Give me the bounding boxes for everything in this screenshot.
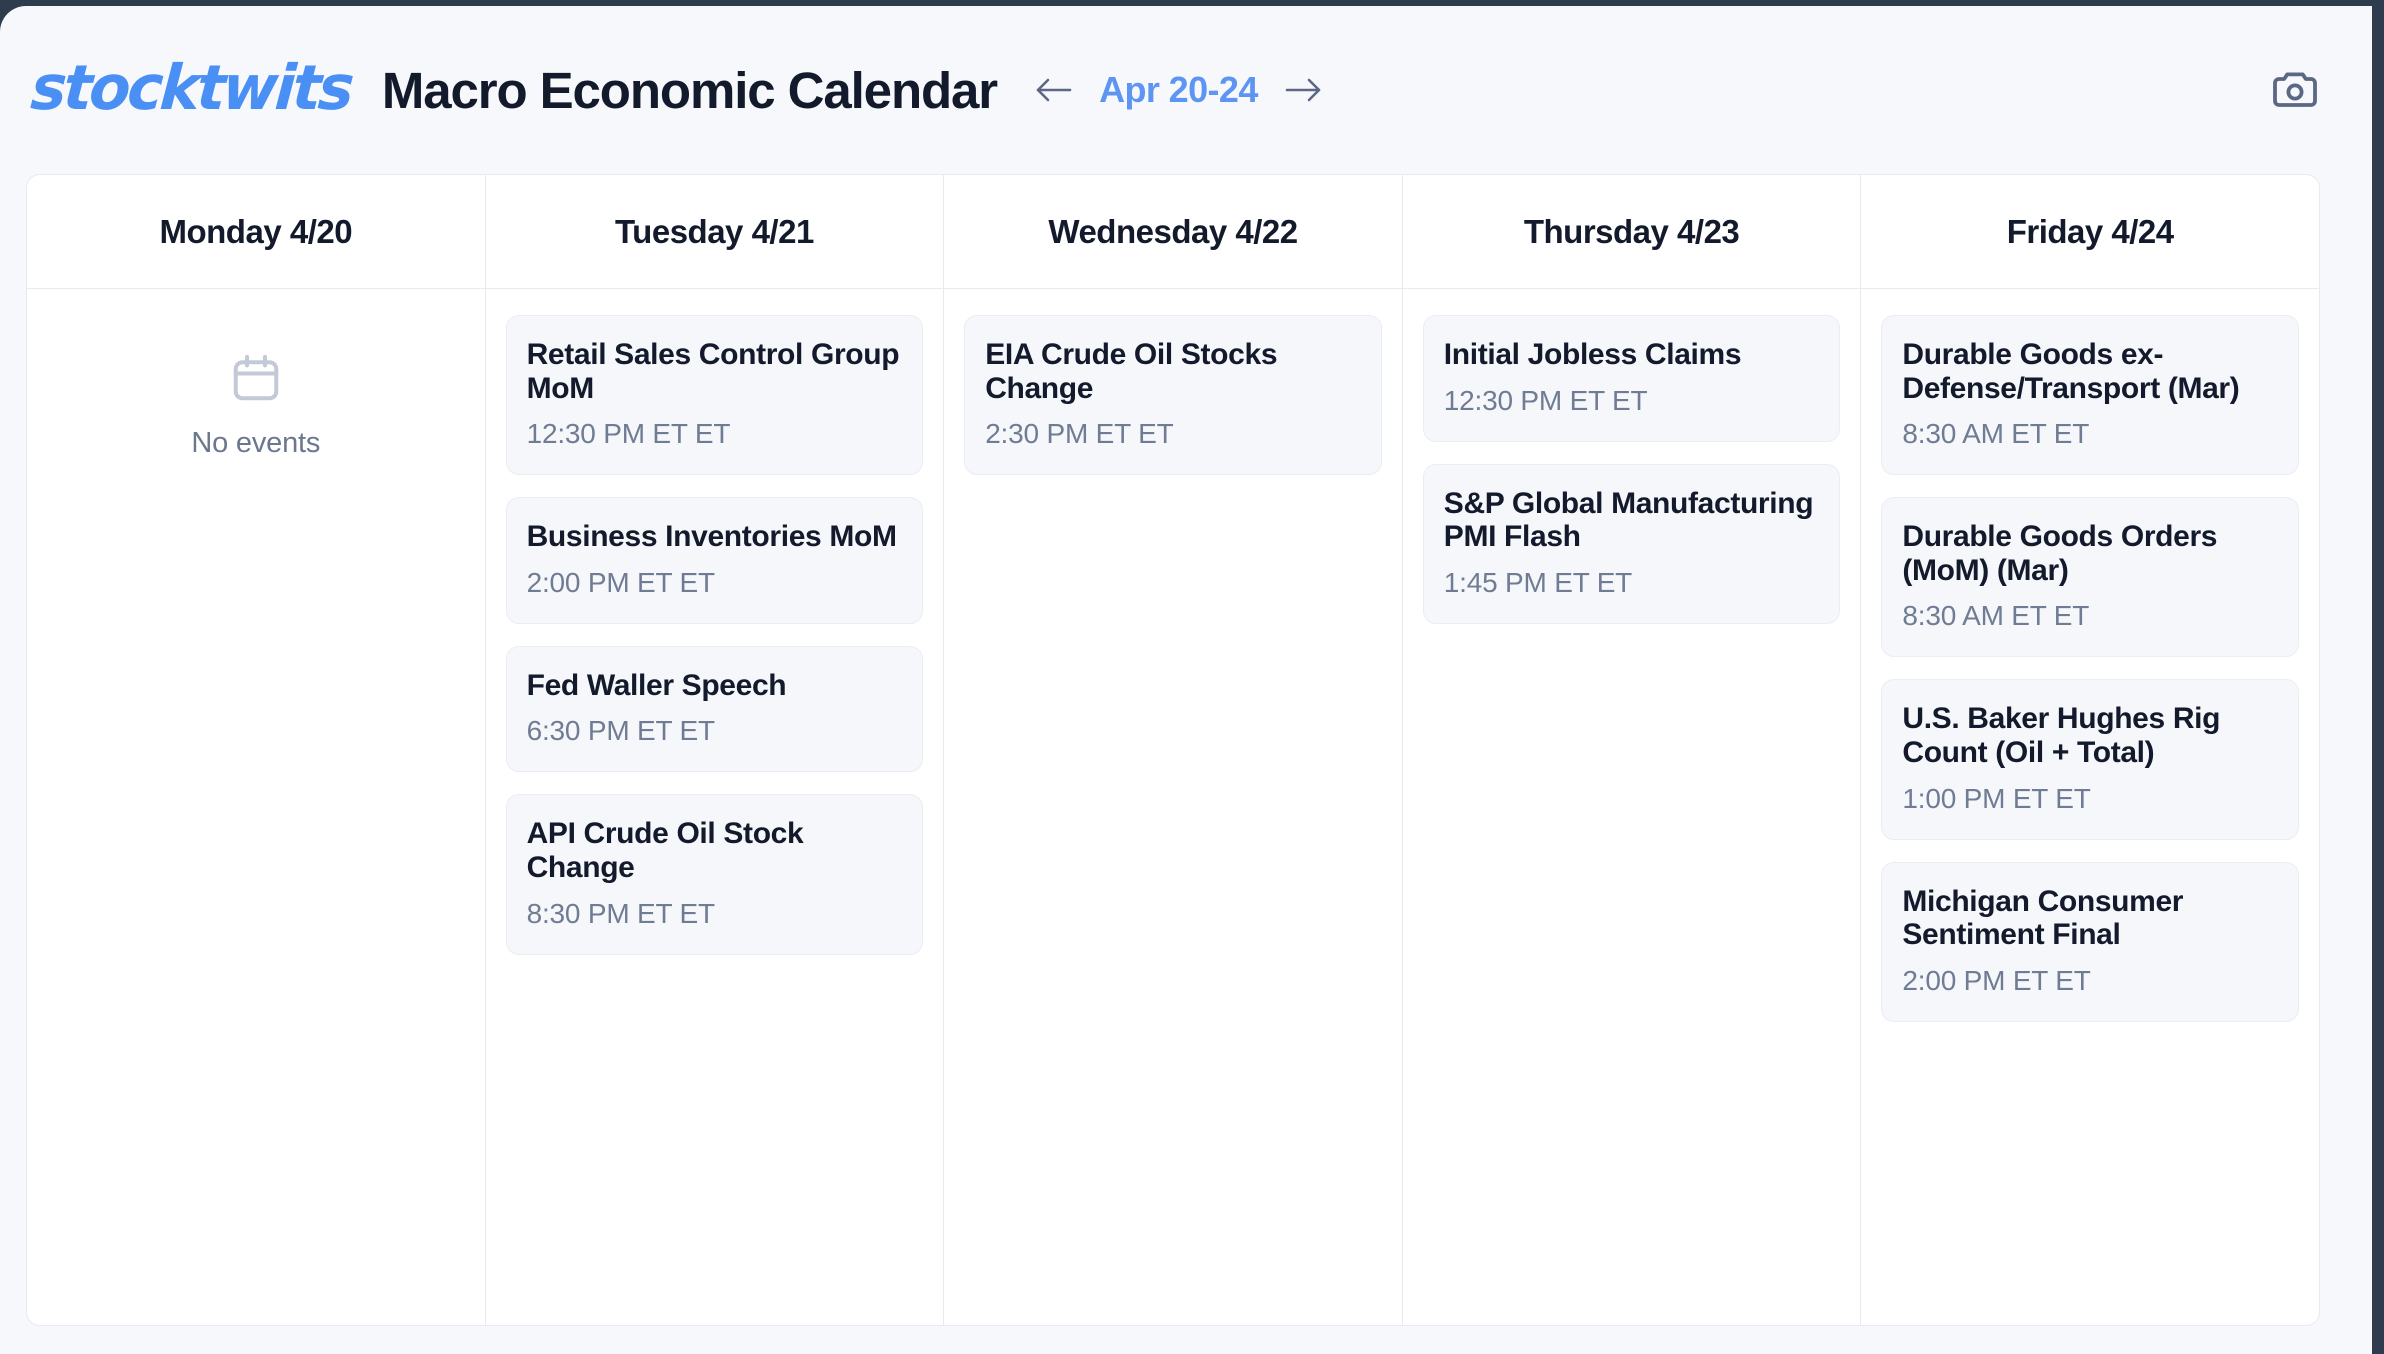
event-title: Durable Goods ex-Defense/Transport (Mar) (1902, 338, 2278, 405)
event-time: 1:00 PM ET ET (1902, 783, 2278, 815)
date-navigation: Apr 20-24 (1031, 69, 1326, 111)
event-title: Initial Jobless Claims (1444, 338, 1820, 372)
event-card[interactable]: U.S. Baker Hughes Rig Count (Oil + Total… (1881, 679, 2299, 839)
event-card[interactable]: Durable Goods Orders (MoM) (Mar) 8:30 AM… (1881, 497, 2299, 657)
empty-state-label: No events (191, 427, 320, 460)
day-header-row: Monday 4/20 Tuesday 4/21 Wednesday 4/22 … (27, 175, 2319, 289)
day-body-row: No events Retail Sales Control Group MoM… (27, 289, 2319, 1325)
event-card[interactable]: Initial Jobless Claims 12:30 PM ET ET (1423, 315, 1841, 442)
event-title: Business Inventories MoM (527, 520, 903, 554)
event-time: 6:30 PM ET ET (527, 715, 903, 747)
day-header-wednesday: Wednesday 4/22 (944, 175, 1403, 288)
calendar-icon (229, 351, 283, 405)
day-header-tuesday: Tuesday 4/21 (486, 175, 945, 288)
event-title: Michigan Consumer Sentiment Final (1902, 885, 2278, 952)
event-card[interactable]: Durable Goods ex-Defense/Transport (Mar)… (1881, 315, 2299, 475)
event-time: 2:00 PM ET ET (527, 567, 903, 599)
event-card[interactable]: Business Inventories MoM 2:00 PM ET ET (506, 497, 924, 624)
day-column-monday: No events (27, 289, 486, 1325)
event-time: 2:30 PM ET ET (985, 418, 1361, 450)
event-title: Fed Waller Speech (527, 669, 903, 703)
day-header-thursday: Thursday 4/23 (1403, 175, 1862, 288)
day-column-wednesday: EIA Crude Oil Stocks Change 2:30 PM ET E… (944, 289, 1403, 1325)
event-time: 8:30 AM ET ET (1902, 600, 2278, 632)
day-header-monday: Monday 4/20 (27, 175, 486, 288)
camera-icon[interactable] (2266, 61, 2324, 119)
event-title: S&P Global Manufacturing PMI Flash (1444, 487, 1820, 554)
event-title: U.S. Baker Hughes Rig Count (Oil + Total… (1902, 702, 2278, 769)
event-time: 8:30 PM ET ET (527, 898, 903, 930)
event-card[interactable]: EIA Crude Oil Stocks Change 2:30 PM ET E… (964, 315, 1382, 475)
event-time: 12:30 PM ET ET (1444, 385, 1820, 417)
event-title: Retail Sales Control Group MoM (527, 338, 903, 405)
event-card[interactable]: Michigan Consumer Sentiment Final 2:00 P… (1881, 862, 2299, 1022)
event-time: 1:45 PM ET ET (1444, 567, 1820, 599)
event-time: 12:30 PM ET ET (527, 418, 903, 450)
app-header: stocktwits Macro Economic Calendar Apr 2… (0, 6, 2372, 174)
day-column-tuesday: Retail Sales Control Group MoM 12:30 PM … (486, 289, 945, 1325)
event-title: EIA Crude Oil Stocks Change (985, 338, 1361, 405)
event-title: Durable Goods Orders (MoM) (Mar) (1902, 520, 2278, 587)
date-range-label[interactable]: Apr 20-24 (1099, 69, 1258, 111)
empty-state: No events (47, 315, 465, 460)
event-time: 8:30 AM ET ET (1902, 418, 2278, 450)
calendar-grid: Monday 4/20 Tuesday 4/21 Wednesday 4/22 … (26, 174, 2320, 1326)
event-card[interactable]: Fed Waller Speech 6:30 PM ET ET (506, 646, 924, 773)
page-title: Macro Economic Calendar (382, 61, 997, 120)
stocktwits-logo[interactable]: stocktwits (29, 57, 354, 123)
day-column-thursday: Initial Jobless Claims 12:30 PM ET ET S&… (1403, 289, 1862, 1325)
day-column-friday: Durable Goods ex-Defense/Transport (Mar)… (1861, 289, 2319, 1325)
event-title: API Crude Oil Stock Change (527, 817, 903, 884)
app-page: stocktwits Macro Economic Calendar Apr 2… (0, 6, 2372, 1354)
arrow-left-icon[interactable] (1031, 73, 1075, 107)
event-card[interactable]: API Crude Oil Stock Change 8:30 PM ET ET (506, 794, 924, 954)
day-header-friday: Friday 4/24 (1861, 175, 2319, 288)
event-card[interactable]: Retail Sales Control Group MoM 12:30 PM … (506, 315, 924, 475)
event-time: 2:00 PM ET ET (1902, 965, 2278, 997)
event-card[interactable]: S&P Global Manufacturing PMI Flash 1:45 … (1423, 464, 1841, 624)
arrow-right-icon[interactable] (1282, 73, 1326, 107)
